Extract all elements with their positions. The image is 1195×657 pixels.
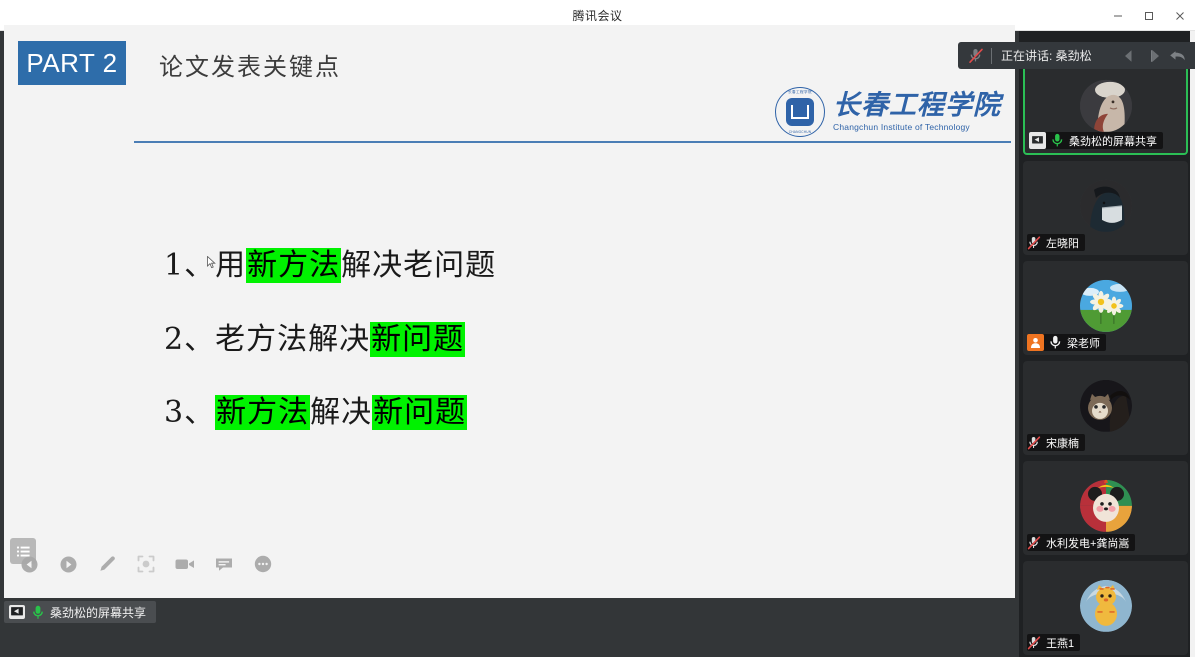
participant-tile[interactable]: 王燕1: [1023, 561, 1188, 655]
participant-name-chip: 宋康楠: [1027, 434, 1085, 451]
highlighted-text: 新方法: [215, 395, 310, 430]
slide-bullet-line: 2、老方法解决新问题: [164, 321, 496, 359]
window-title: 腾讯会议: [572, 7, 622, 24]
plain-text: 用: [215, 248, 246, 283]
bullet-number: 1、: [164, 248, 215, 283]
screen-share-status-bar: 桑劲松的屏幕共享: [4, 598, 1015, 626]
host-badge-icon: [1027, 334, 1044, 351]
pen-icon[interactable]: [96, 553, 118, 575]
seal-top-text: 长春工程学院: [776, 90, 824, 95]
microphone-on-icon: [1048, 335, 1063, 350]
laser-pointer-icon[interactable]: [135, 553, 157, 575]
presentation-slide: PART 2 论文发表关键点 长春工程学院 CHANGCHUN 长春工程学院 C…: [4, 25, 1015, 598]
participant-name-chip: 王燕1: [1027, 634, 1080, 651]
screen-share-icon: [1029, 132, 1046, 149]
participant-tile[interactable]: 水利发电+龚尚嵩: [1023, 461, 1188, 555]
active-speaker-label: 正在讲话: 桑劲松: [1001, 47, 1092, 64]
participant-tile[interactable]: 桑劲松的屏幕共享: [1023, 61, 1188, 155]
microphone-on-icon: [1050, 133, 1065, 148]
participant-name-chip: 左晓阳: [1027, 234, 1085, 251]
share-status-chip[interactable]: 桑劲松的屏幕共享: [4, 601, 156, 623]
plain-text: 解决: [310, 395, 372, 430]
slide-title: 论文发表关键点: [159, 47, 341, 82]
camera-icon[interactable]: [174, 553, 196, 575]
participant-name: 梁老师: [1067, 335, 1100, 351]
next-slide-icon[interactable]: [57, 553, 79, 575]
participant-name: 桑劲松的屏幕共享: [1069, 133, 1157, 149]
avatar: [1080, 580, 1132, 632]
avatar: [1080, 280, 1132, 332]
highlighted-text: 新方法: [246, 248, 341, 283]
slide-body-lines: 1、用新方法解决老问题2、老方法解决新问题3、新方法解决新问题: [164, 247, 496, 432]
participant-name-chip: 水利发电+龚尚嵩: [1027, 534, 1135, 551]
avatar: [1080, 80, 1132, 132]
highlighted-text: 新问题: [372, 395, 467, 430]
maximize-button[interactable]: [1133, 0, 1164, 31]
participant-tile[interactable]: 左晓阳: [1023, 161, 1188, 255]
plain-text: 老方法解决: [215, 322, 370, 357]
slide-part-badge: PART 2: [18, 41, 126, 85]
avatar: [1080, 380, 1132, 432]
highlighted-text: 新问题: [370, 322, 465, 357]
presentation-toolbar: [18, 553, 274, 575]
school-logo-text: 长春工程学院 Changchun Institute of Technology: [833, 92, 1001, 132]
subtitle-icon[interactable]: [213, 553, 235, 575]
more-options-icon[interactable]: [252, 553, 274, 575]
participant-name: 水利发电+龚尚嵩: [1046, 535, 1129, 551]
slide-header-rule: [134, 141, 1011, 143]
collapse-left-icon[interactable]: [1119, 45, 1141, 67]
speaking-bar-actions: [1119, 45, 1195, 67]
microphone-muted-icon: [1027, 635, 1042, 650]
school-name-en: Changchun Institute of Technology: [833, 122, 1001, 132]
school-name-cn: 长春工程学院: [833, 92, 1001, 120]
share-status-label: 桑劲松的屏幕共享: [50, 604, 146, 621]
window-controls: [1102, 0, 1195, 31]
slide-bullet-line: 3、新方法解决新问题: [164, 394, 496, 432]
microphone-muted-icon: [1027, 535, 1042, 550]
participant-tile[interactable]: 宋康楠: [1023, 361, 1188, 455]
close-button[interactable]: [1164, 0, 1195, 31]
participant-name-chip: 梁老师: [1027, 334, 1106, 351]
bullet-number: 3、: [164, 395, 215, 430]
microphone-on-icon: [31, 605, 44, 620]
seal-bottom-text: CHANGCHUN: [776, 130, 824, 134]
active-speaker-bar[interactable]: 正在讲话: 桑劲松: [958, 42, 1195, 69]
tencent-meeting-window: 腾讯会议 PART 2 论文发表关键点 长春工程学院 CHAN: [0, 0, 1195, 657]
participant-name: 王燕1: [1046, 635, 1074, 651]
school-logo: 长春工程学院 CHANGCHUN 长春工程学院 Changchun Instit…: [775, 87, 1001, 137]
avatar: [1080, 480, 1132, 532]
participant-name-chip: 桑劲松的屏幕共享: [1029, 132, 1163, 149]
slide-bullet-line: 1、用新方法解决老问题: [164, 247, 496, 285]
school-seal-icon: 长春工程学院 CHANGCHUN: [775, 87, 825, 137]
participant-rail[interactable]: 桑劲松的屏幕共享 左晓阳: [1019, 31, 1195, 657]
shared-screen-viewport[interactable]: PART 2 论文发表关键点 长春工程学院 CHANGCHUN 长春工程学院 C…: [4, 25, 1015, 598]
participant-name: 宋康楠: [1046, 435, 1079, 451]
microphone-muted-icon: [1027, 435, 1042, 450]
collapse-right-icon[interactable]: [1143, 45, 1165, 67]
microphone-muted-icon: [1027, 235, 1042, 250]
previous-slide-icon[interactable]: [18, 553, 40, 575]
microphone-muted-icon: [966, 47, 986, 65]
speaking-bar-divider: [991, 48, 992, 64]
rail-right-edge: [1190, 31, 1195, 657]
minimize-button[interactable]: [1102, 0, 1133, 31]
avatar: [1080, 180, 1132, 232]
participant-tile[interactable]: 梁老师: [1023, 261, 1188, 355]
seal-emblem-icon: [786, 98, 814, 126]
bullet-number: 2、: [164, 322, 215, 357]
screen-share-icon: [9, 605, 25, 619]
participant-name: 左晓阳: [1046, 235, 1079, 251]
plain-text: 解决老问题: [341, 248, 496, 283]
undo-arrow-icon[interactable]: [1167, 45, 1189, 67]
